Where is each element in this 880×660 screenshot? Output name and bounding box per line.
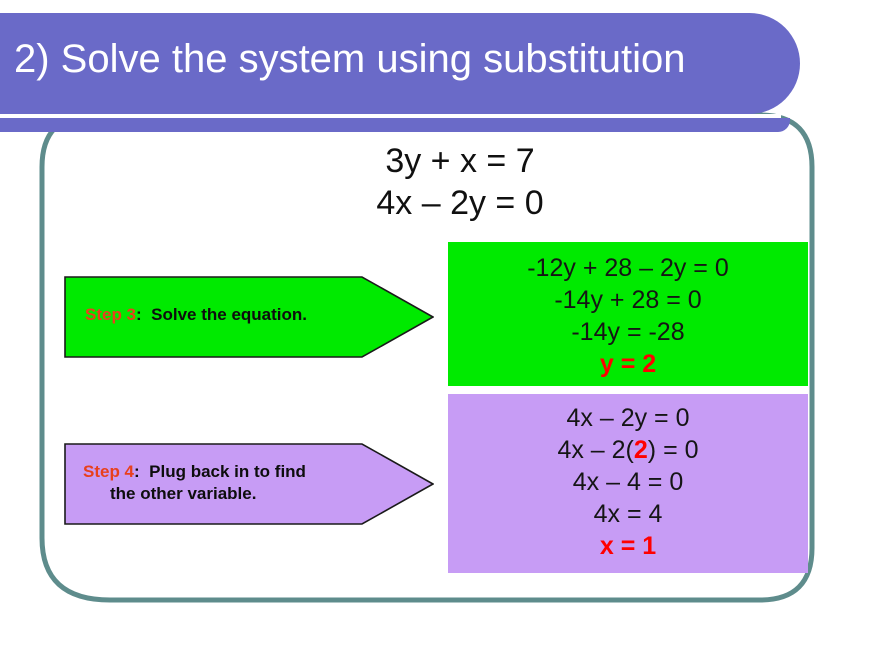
step-3-label: Step 3: Solve the equation. [64, 304, 434, 326]
system-of-equations: 3y + x = 7 4x – 2y = 0 [250, 140, 670, 224]
purple-work-line-3: 4x – 4 = 0 [448, 466, 808, 498]
title-underline [0, 114, 781, 118]
slide-canvas: 2) Solve the system using substitution 3… [0, 0, 880, 660]
green-work-line-2: -14y + 28 = 0 [448, 284, 808, 316]
step-4-number: Step 4 [83, 462, 134, 481]
step-4-work-box: 4x – 2y = 0 4x – 2(2) = 0 4x – 4 = 0 4x … [448, 394, 808, 573]
step-3-number: Step 3 [85, 305, 136, 324]
step-3-work-box: -12y + 28 – 2y = 0 -14y + 28 = 0 -14y = … [448, 242, 808, 386]
step-4-label: Step 4: Plug back in to find the other v… [64, 461, 434, 505]
purple-line-2-prefix: 4x – 2( [557, 436, 633, 464]
step-3-text: Solve the equation. [151, 305, 307, 324]
step-3-arrow-shape: Step 3: Solve the equation. [64, 276, 434, 358]
purple-line-2-substituted-value: 2 [634, 436, 648, 464]
step-4-arrow-shape: Step 4: Plug back in to find the other v… [64, 443, 434, 525]
green-answer: y = 2 [448, 348, 808, 380]
purple-answer: x = 1 [448, 530, 808, 562]
purple-work-line-2: 4x – 2(2) = 0 [448, 434, 808, 466]
page-title: 2) Solve the system using substitution [14, 36, 804, 82]
step-4-separator: : [134, 462, 140, 481]
title-bar-lower-strip [0, 118, 790, 132]
step-3-separator: : [136, 305, 142, 324]
equation-1: 3y + x = 7 [250, 140, 670, 182]
equation-2: 4x – 2y = 0 [250, 182, 670, 224]
step-4-text-line-2: the other variable. [83, 483, 434, 505]
purple-line-2-suffix: ) = 0 [648, 436, 699, 464]
step-4-text-line-1: Plug back in to find [149, 462, 306, 481]
purple-work-line-4: 4x = 4 [448, 498, 808, 530]
green-work-line-3: -14y = -28 [448, 316, 808, 348]
green-work-line-1: -12y + 28 – 2y = 0 [448, 252, 808, 284]
purple-work-line-1: 4x – 2y = 0 [448, 402, 808, 434]
